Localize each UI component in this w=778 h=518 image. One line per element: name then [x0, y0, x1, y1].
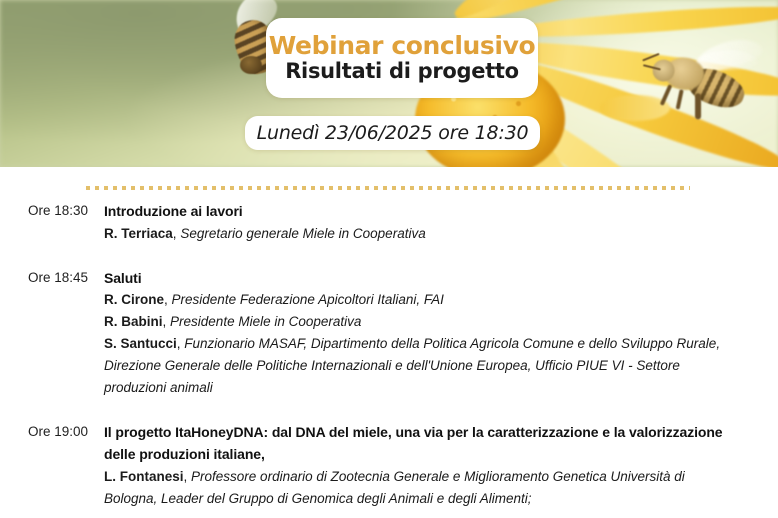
- agenda-row: Ore 18:30Introduzione ai lavoriR. Terria…: [0, 200, 778, 245]
- agenda-rows: Ore 18:30Introduzione ai lavoriR. Terria…: [0, 200, 778, 510]
- banner-date-card: Lunedì 23/06/2025 ore 18:30: [245, 116, 540, 150]
- agenda-row: Ore 19:00Il progetto ItaHoneyDNA: dal DN…: [0, 421, 778, 510]
- speaker-role: Funzionario MASAF, Dipartimento della Po…: [104, 336, 720, 395]
- agenda-entry: Il progetto ItaHoneyDNA: dal DNA del mie…: [104, 421, 778, 510]
- banner-title: Webinar conclusivo: [269, 33, 536, 60]
- speaker-role: Presidente Miele in Cooperativa: [170, 314, 361, 329]
- agenda-entry: Introduzione ai lavoriR. Terriaca, Segre…: [104, 200, 778, 245]
- speaker-role: Presidente Federazione Apicoltori Italia…: [172, 292, 444, 307]
- agenda-time: Ore 18:30: [0, 200, 104, 222]
- agenda-entry-title: Il progetto ItaHoneyDNA: dal DNA del mie…: [104, 421, 726, 466]
- speaker-name: R. Terriaca: [104, 226, 173, 241]
- banner-title-card: Webinar conclusivo Risultati di progetto: [266, 18, 538, 98]
- speaker-role: Professore ordinario di Zootecnia Genera…: [104, 469, 685, 506]
- speaker-name: R. Cirone: [104, 292, 164, 307]
- agenda-speaker: R. Cirone, Presidente Federazione Apicol…: [104, 289, 726, 311]
- speaker-name: R. Babini: [104, 314, 163, 329]
- event-banner: Webinar conclusivo Risultati di progetto…: [0, 0, 778, 167]
- agenda-row: Ore 18:45SalutiR. Cirone, Presidente Fed…: [0, 267, 778, 399]
- speaker-role: Segretario generale Miele in Cooperativa: [180, 226, 425, 241]
- agenda-entry-title: Saluti: [104, 267, 726, 290]
- banner-date: Lunedì 23/06/2025 ore 18:30: [257, 122, 529, 144]
- speaker-name: L. Fontanesi: [104, 469, 184, 484]
- agenda-speaker: S. Santucci, Funzionario MASAF, Dipartim…: [104, 333, 726, 399]
- agenda-speaker: L. Fontanesi, Professore ordinario di Zo…: [104, 466, 726, 510]
- speaker-separator: ,: [184, 469, 192, 484]
- agenda-speaker: R. Babini, Presidente Miele in Cooperati…: [104, 311, 726, 333]
- speaker-separator: ,: [163, 314, 171, 329]
- agenda-speaker: R. Terriaca, Segretario generale Miele i…: [104, 223, 726, 245]
- flying-bee-icon: [640, 32, 770, 144]
- speaker-name: S. Santucci: [104, 336, 177, 351]
- agenda-entry: SalutiR. Cirone, Presidente Federazione …: [104, 267, 778, 399]
- agenda-time: Ore 19:00: [0, 421, 104, 443]
- speaker-separator: ,: [164, 292, 172, 307]
- dotted-divider: [86, 186, 690, 190]
- agenda-time: Ore 18:45: [0, 267, 104, 289]
- agenda-entry-title: Introduzione ai lavori: [104, 200, 726, 223]
- banner-subtitle: Risultati di progetto: [285, 60, 519, 83]
